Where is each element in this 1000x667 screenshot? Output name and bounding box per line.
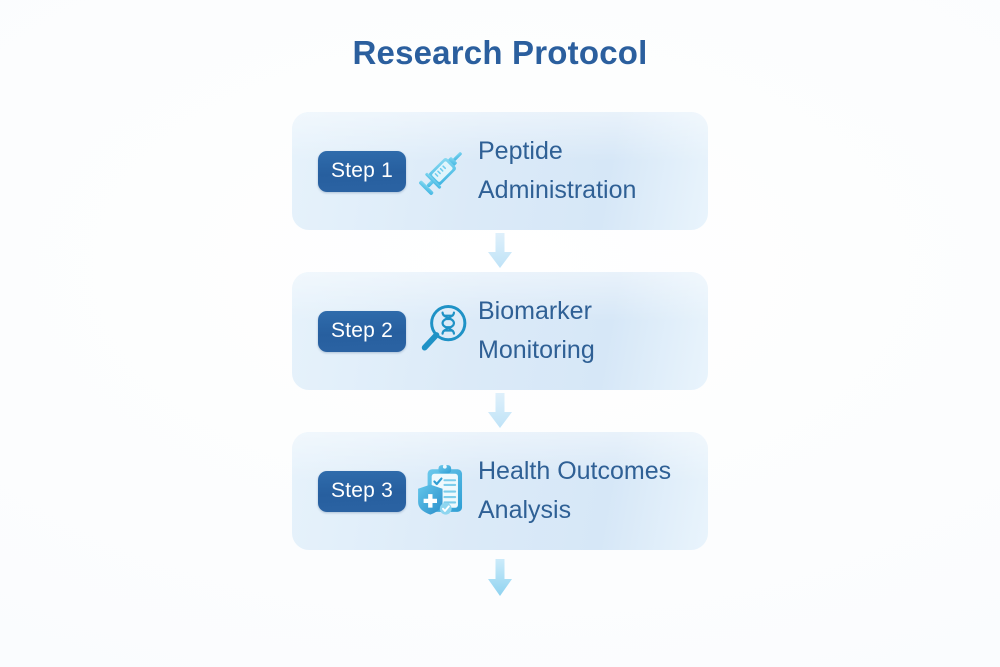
step-badge-2: Step 2 (318, 311, 406, 352)
clipboard-shield-icon (412, 458, 474, 524)
arrow-step2-to-step3 (292, 390, 708, 432)
protocol-diagram: Research Protocol Step 1 (0, 0, 1000, 667)
step-label-3: Health Outcomes Analysis (478, 452, 671, 530)
arrow-step3-outflow (292, 550, 708, 606)
step-card-3[interactable]: Step 3 (292, 432, 708, 550)
step-label-1: Peptide Administration (478, 132, 636, 210)
page-title: Research Protocol (0, 34, 1000, 72)
step-card-1[interactable]: Step 1 (292, 112, 708, 230)
step-card-2[interactable]: Step 2 (292, 272, 708, 390)
step-label-2: Biomarker Monitoring (478, 292, 595, 370)
step-badge-1: Step 1 (318, 151, 406, 192)
dna-magnifier-icon (412, 298, 474, 364)
syringe-icon (412, 138, 474, 204)
step-badge-3: Step 3 (318, 471, 406, 512)
protocol-flow: Step 1 (292, 112, 708, 606)
arrow-step1-to-step2 (292, 230, 708, 272)
